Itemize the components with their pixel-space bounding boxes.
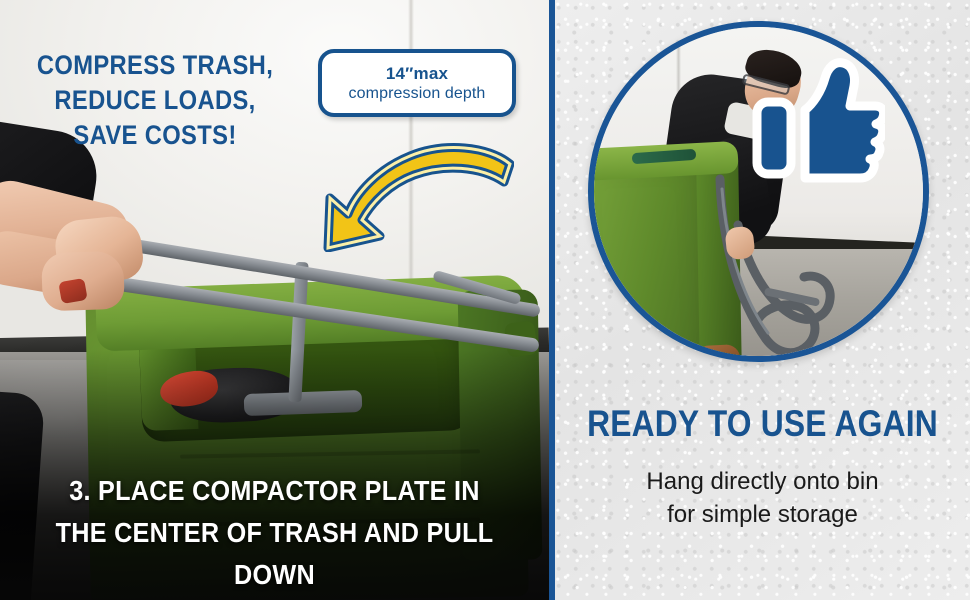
left-caption: 3. PLACE COMPACTOR PLATE IN THE CENTER O…	[27, 470, 521, 596]
badge-subtitle: compression depth	[349, 84, 486, 104]
left-headline-line-2: REDUCE LOADS,	[19, 83, 292, 118]
product-feature-banner: COMPRESS TRASH, REDUCE LOADS, SAVE COSTS…	[0, 0, 970, 600]
right-subtitle-line-1: Hang directly onto bin	[555, 465, 970, 498]
right-headline: READY TO USE AGAIN	[584, 403, 941, 445]
left-headline-line-1: COMPRESS TRASH,	[19, 48, 292, 83]
right-panel: READY TO USE AGAIN Hang directly onto bi…	[555, 0, 970, 600]
left-headline: COMPRESS TRASH, REDUCE LOADS, SAVE COSTS…	[19, 48, 292, 153]
thumbs-up-icon	[751, 58, 885, 186]
left-headline-line-3: SAVE COSTS!	[19, 118, 292, 153]
right-subtitle-line-2: for simple storage	[555, 498, 970, 531]
tool-red-grip	[58, 278, 87, 304]
compression-depth-badge: 14″max compression depth	[318, 49, 516, 117]
compactor-tool-hanging	[712, 173, 852, 362]
left-caption-line-2: THE CENTER OF TRASH AND PULL DOWN	[27, 512, 521, 596]
photo-person-hand-lower	[724, 226, 755, 261]
left-caption-line-1: 3. PLACE COMPACTOR PLATE IN	[27, 470, 521, 512]
badge-title: 14″max	[386, 63, 448, 84]
curved-down-left-arrow-icon	[318, 140, 514, 252]
left-panel: COMPRESS TRASH, REDUCE LOADS, SAVE COSTS…	[0, 0, 549, 600]
right-subtitle: Hang directly onto bin for simple storag…	[555, 465, 970, 531]
